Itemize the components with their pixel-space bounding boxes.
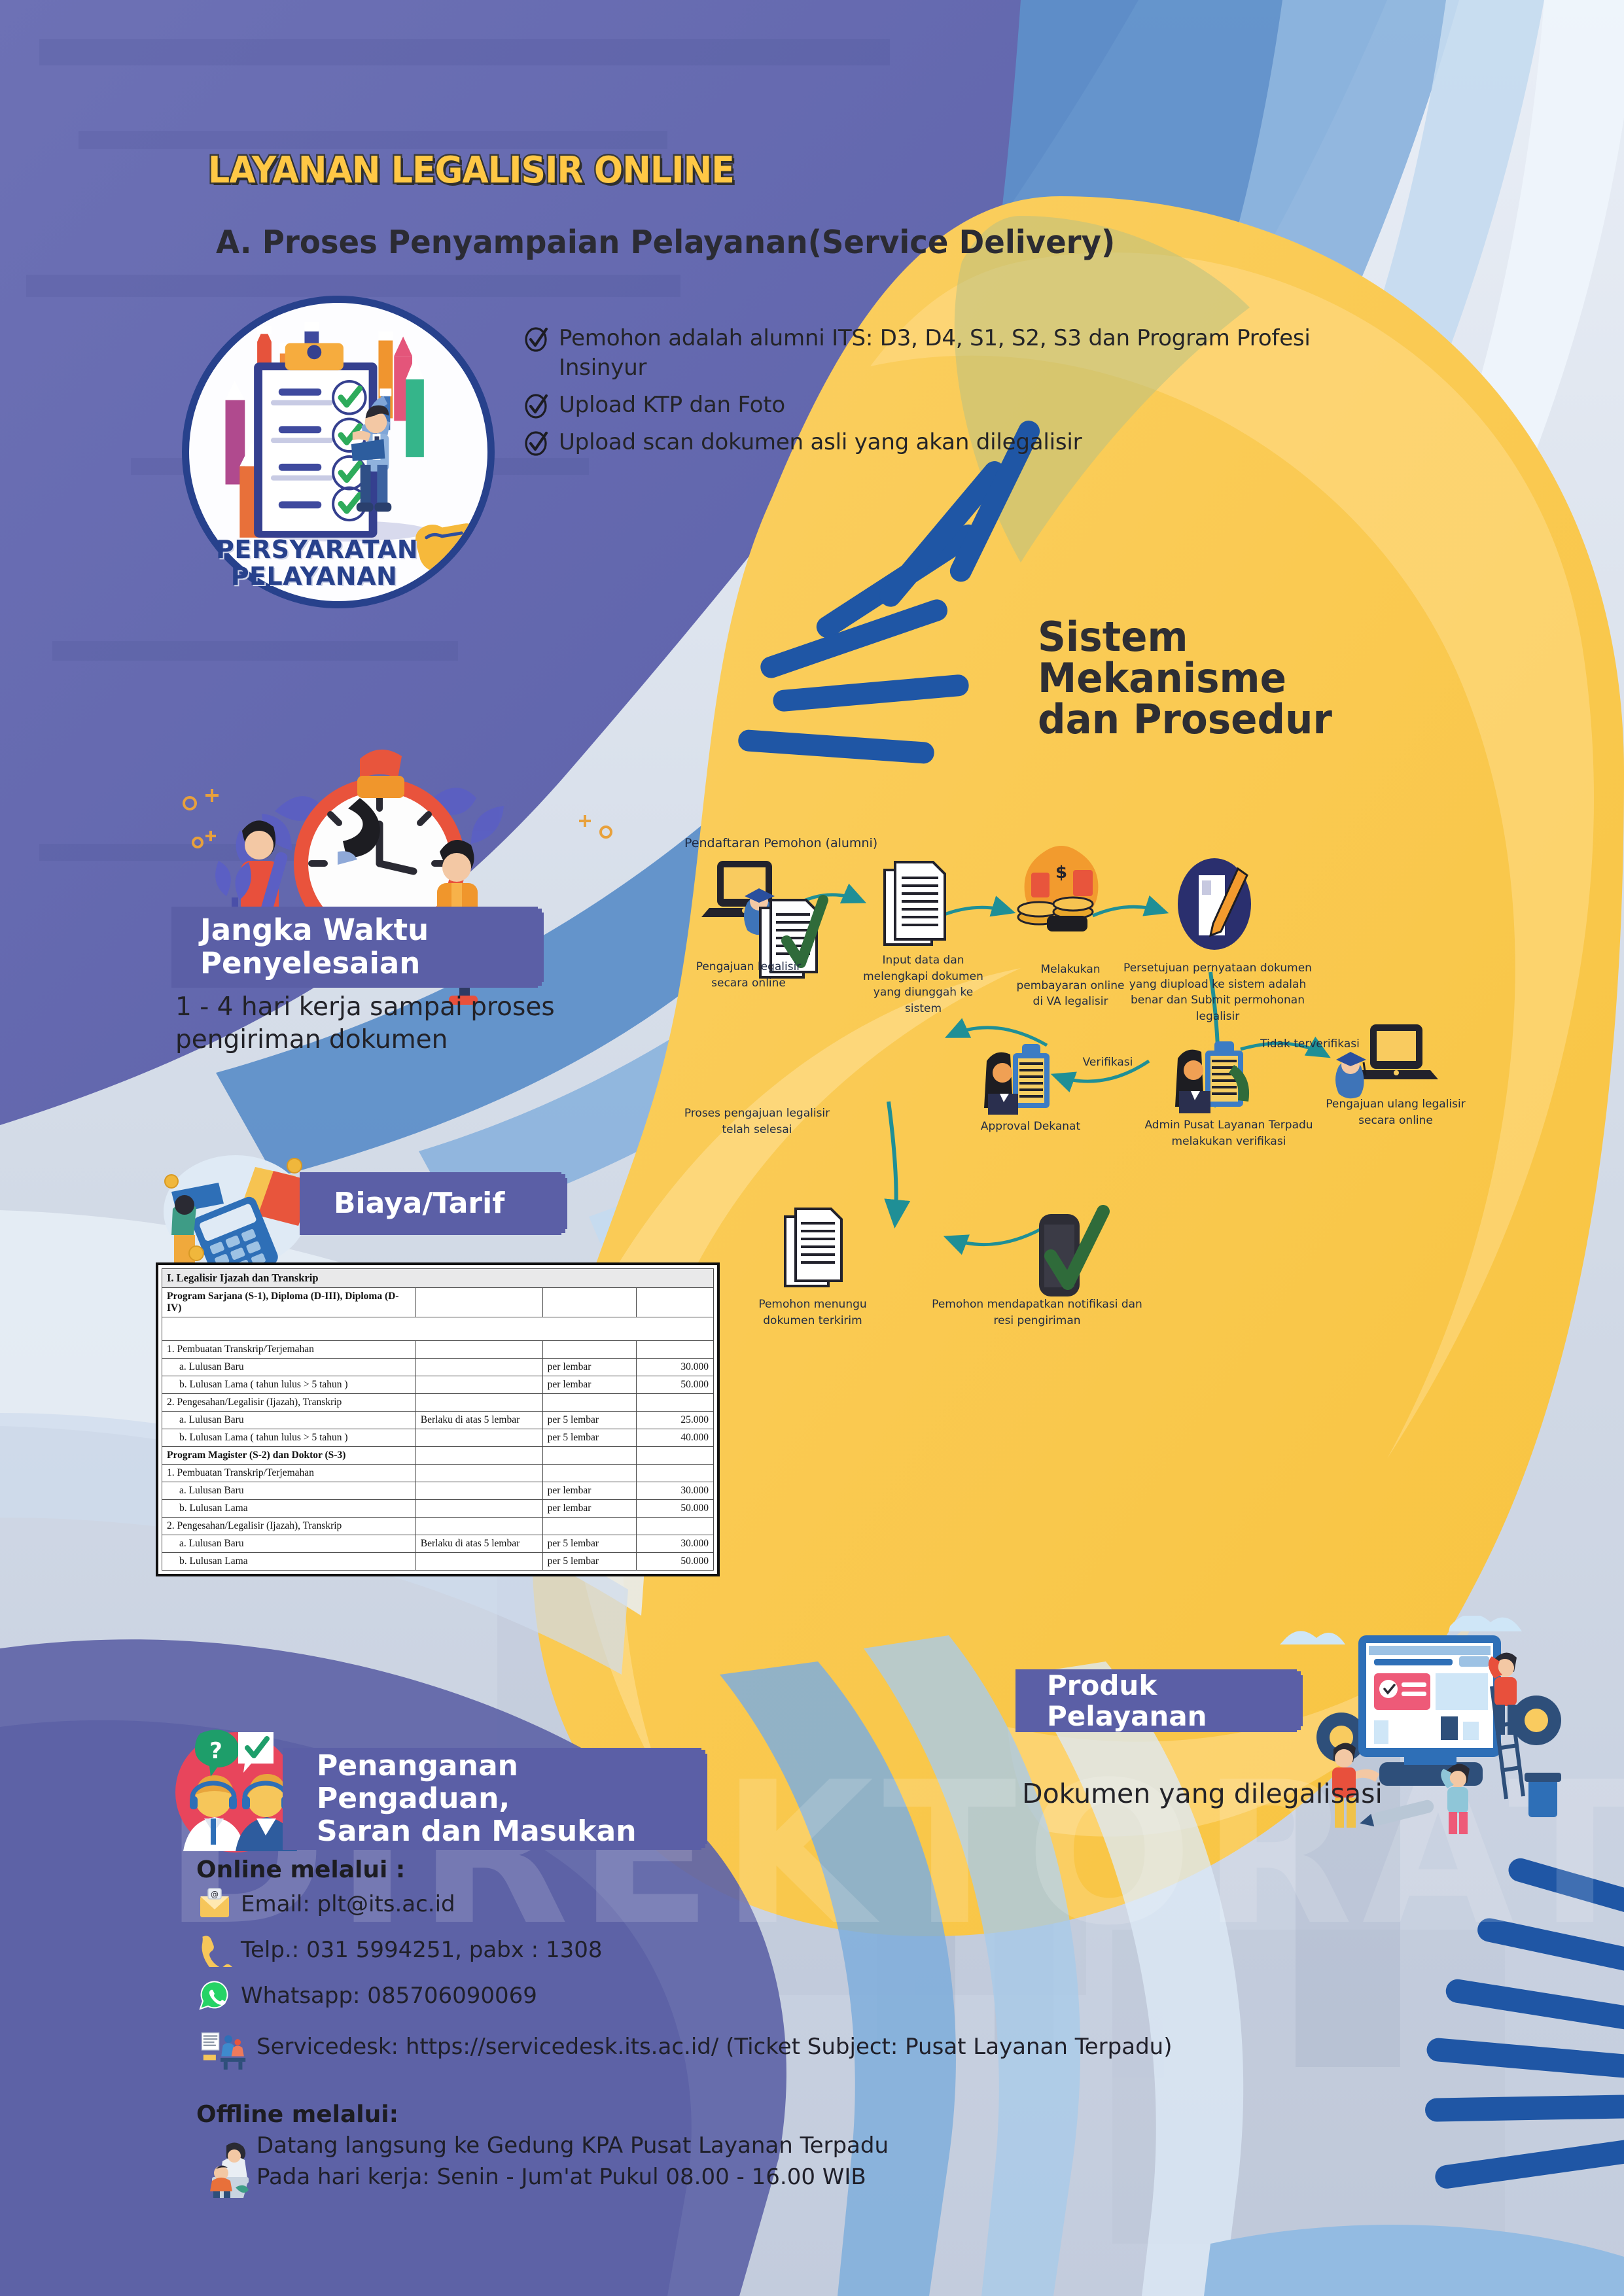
flow-step-5-label: Admin Pusat Layanan Terpadu melakukan ve… xyxy=(1144,1117,1314,1149)
svg-text:@: @ xyxy=(211,1890,219,1899)
table-cell: a. Lulusan Baru xyxy=(162,1482,416,1500)
tariff-ribbon: Biaya/Tarif xyxy=(300,1172,561,1235)
table-row: b. Lulusan Lama ( tahun lulus > 5 tahun … xyxy=(162,1376,714,1394)
table-cell: 30.000 xyxy=(636,1359,713,1376)
table-cell xyxy=(415,1465,542,1482)
table-cell xyxy=(415,1500,542,1518)
table-cell: a. Lulusan Baru xyxy=(162,1535,416,1553)
documents-wait-icon xyxy=(785,1209,841,1286)
flow-step-8-label: Pengajuan ulang legalisir secara online xyxy=(1320,1096,1471,1128)
page-title: LAYANAN LEGALISIR ONLINE xyxy=(208,149,734,192)
duration-description: 1 - 4 hari kerja sampai proses pengirima… xyxy=(175,991,686,1056)
list-item: Upload KTP dan Foto xyxy=(523,391,1387,420)
table-cell xyxy=(542,1447,636,1465)
table-row: a. Lulusan BaruBerlaku di atas 5 lembarp… xyxy=(162,1412,714,1429)
table-cell xyxy=(542,1465,636,1482)
table-row: b. Lulusan Lamaper 5 lembar50.000 xyxy=(162,1553,714,1571)
complaints-ribbon-label: Penanganan Pengaduan, Saran dan Masukan xyxy=(317,1750,701,1847)
requirement-text: Upload KTP dan Foto xyxy=(559,391,785,420)
flow-step-9-label: Pemohon mendapatkan notifikasi dan resi … xyxy=(929,1296,1145,1329)
duration-ribbon: Jangka Waktu Penyelesaian xyxy=(171,907,538,988)
table-cell: per 5 lembar xyxy=(542,1412,636,1429)
table-cell: 1. Pembuatan Transkrip/Terjemahan xyxy=(162,1465,416,1482)
requirement-text: Upload scan dokumen asli yang akan dileg… xyxy=(559,428,1082,457)
section-a-title: A. Proses Penyampaian Pelayanan(Service … xyxy=(216,224,1115,261)
check-circle-icon xyxy=(523,393,550,419)
contact-servicedesk-text: Servicedesk: https://servicedesk.its.ac.… xyxy=(256,2030,1178,2061)
offline-line-1: Datang langsung ke Gedung KPA Pusat Laya… xyxy=(256,2131,1178,2162)
offline-section: Offline melalui: Datang langsung ke Gedu… xyxy=(196,2101,1178,2193)
table-cell: per 5 lembar xyxy=(542,1553,636,1571)
table-cell: I. Legalisir Ijazah dan Transkrip xyxy=(162,1269,714,1288)
contact-row-whatsapp[interactable]: Whatsapp: 085706090069 xyxy=(196,1979,1178,2013)
table-cell: Program Magister (S-2) dan Doktor (S-3) xyxy=(162,1447,416,1465)
product-ribbon: Produk Pelayanan xyxy=(1015,1669,1297,1732)
servicedesk-icon xyxy=(196,2030,253,2070)
approval-clipboard-icon xyxy=(984,1044,1050,1115)
contact-row-email[interactable]: @ Email: plt@its.ac.id xyxy=(196,1887,1178,1921)
contact-email-text: Email: plt@its.ac.id xyxy=(241,1887,455,1919)
requirement-text: Pemohon adalah alumni ITS: D3, D4, S1, S… xyxy=(559,324,1387,383)
contact-whatsapp-text: Whatsapp: 085706090069 xyxy=(241,1979,537,2010)
table-row: 1. Pembuatan Transkrip/Terjemahan xyxy=(162,1465,714,1482)
complaints-ribbon: Penanganan Pengaduan, Saran dan Masukan xyxy=(283,1748,701,1850)
table-cell: b. Lulusan Lama xyxy=(162,1553,416,1571)
document-pencil-icon xyxy=(1178,858,1251,950)
table-row: b. Lulusan Lama ( tahun lulus > 5 tahun … xyxy=(162,1429,714,1447)
table-cell xyxy=(636,1288,713,1317)
table-cell: per lembar xyxy=(542,1482,636,1500)
table-cell: 40.000 xyxy=(636,1429,713,1447)
requirements-list: Pemohon adalah alumni ITS: D3, D4, S1, S… xyxy=(523,324,1387,465)
table-cell: per 5 lembar xyxy=(542,1535,636,1553)
flow-top-label: Pendaftaran Pemohon (alumni) xyxy=(684,835,907,853)
mechanism-flowchart: $ xyxy=(680,831,1570,1354)
table-cell xyxy=(542,1518,636,1535)
table-cell: b. Lulusan Lama ( tahun lulus > 5 tahun … xyxy=(162,1376,416,1394)
tariff-table-body: I. Legalisir Ijazah dan Transkrip Progra… xyxy=(162,1269,714,1571)
flow-step-2-label: Input data dan melengkapi dokumen yang d… xyxy=(861,952,985,1017)
online-heading: Online melalui : xyxy=(196,1856,1178,1883)
phone-check-icon xyxy=(1039,1211,1103,1296)
check-circle-icon xyxy=(523,430,550,457)
table-cell: per lembar xyxy=(542,1376,636,1394)
list-item: Upload scan dokumen asli yang akan dileg… xyxy=(523,428,1387,457)
table-cell xyxy=(636,1447,713,1465)
table-cell xyxy=(415,1518,542,1535)
contact-row-servicedesk[interactable]: Servicedesk: https://servicedesk.its.ac.… xyxy=(196,2030,1178,2070)
table-cell: per lembar xyxy=(542,1500,636,1518)
table-cell: per lembar xyxy=(542,1359,636,1376)
table-cell xyxy=(415,1359,542,1376)
table-cell: 30.000 xyxy=(636,1482,713,1500)
table-cell xyxy=(636,1341,713,1359)
table-cell xyxy=(415,1341,542,1359)
list-item: Pemohon adalah alumni ITS: D3, D4, S1, S… xyxy=(523,324,1387,383)
flow-edge-tidak-terverifikasi-label: Tidak terverifikasi xyxy=(1238,1036,1382,1052)
email-icon: @ xyxy=(196,1887,237,1921)
svg-text:$: $ xyxy=(1055,863,1067,882)
svg-text:?: ? xyxy=(209,1738,222,1764)
flow-edge-verifikasi-label: Verifikasi xyxy=(1065,1054,1150,1071)
table-row: a. Lulusan Baruper lembar30.000 xyxy=(162,1482,714,1500)
flow-step-1-label: Pengajuan legalisir secara online xyxy=(683,959,814,991)
offline-heading: Offline melalui: xyxy=(196,2101,1178,2128)
table-cell: 2. Pengesahan/Legalisir (Ijazah), Transk… xyxy=(162,1394,416,1412)
contact-channels: Online melalui : @ Email: plt@its.ac.id … xyxy=(196,1856,1178,2082)
tariff-ribbon-label: Biaya/Tarif xyxy=(334,1187,504,1220)
table-cell: 50.000 xyxy=(636,1553,713,1571)
mechanism-heading: Sistem Mekanisme dan Prosedur xyxy=(1038,616,1332,740)
table-row: 1. Pembuatan Transkrip/Terjemahan xyxy=(162,1341,714,1359)
table-cell xyxy=(415,1553,542,1571)
laptop-graduate-retry-icon xyxy=(1335,1024,1438,1098)
table-cell xyxy=(636,1394,713,1412)
table-cell: 1. Pembuatan Transkrip/Terjemahan xyxy=(162,1341,416,1359)
table-row-section: I. Legalisir Ijazah dan Transkrip xyxy=(162,1269,714,1288)
contact-row-phone[interactable]: Telp.: 031 5994251, pabx : 1308 xyxy=(196,1933,1178,1967)
money-bag-coins-icon: $ xyxy=(1018,846,1098,931)
product-description: Dokumen yang dilegalisasi xyxy=(1022,1778,1383,1809)
table-cell xyxy=(636,1518,713,1535)
table-cell xyxy=(415,1394,542,1412)
table-cell: a. Lulusan Baru xyxy=(162,1412,416,1429)
tariff-table-container: I. Legalisir Ijazah dan Transkrip Progra… xyxy=(156,1262,720,1576)
tariff-table: I. Legalisir Ijazah dan Transkrip Progra… xyxy=(162,1268,714,1571)
check-circle-icon xyxy=(523,326,550,353)
table-cell: 50.000 xyxy=(636,1500,713,1518)
table-cell-spacer xyxy=(162,1317,714,1341)
table-cell: 50.000 xyxy=(636,1376,713,1394)
table-cell: b. Lulusan Lama xyxy=(162,1500,416,1518)
persyaratan-label: PERSYARATAN PELAYANAN xyxy=(216,536,412,590)
contact-phone-text: Telp.: 031 5994251, pabx : 1308 xyxy=(241,1933,602,1964)
table-row: Program Magister (S-2) dan Doktor (S-3) xyxy=(162,1447,714,1465)
table-row: 2. Pengesahan/Legalisir (Ijazah), Transk… xyxy=(162,1518,714,1535)
table-cell xyxy=(542,1341,636,1359)
table-cell: 30.000 xyxy=(636,1535,713,1553)
documents-icon xyxy=(885,862,945,945)
table-cell: Program Sarjana (S-1), Diploma (D-III), … xyxy=(162,1288,416,1317)
table-cell: b. Lulusan Lama ( tahun lulus > 5 tahun … xyxy=(162,1429,416,1447)
flow-step-10-label: Pemohon menungu dokumen terkirim xyxy=(741,1296,885,1329)
whatsapp-icon xyxy=(196,1979,237,2013)
flowchart-svg: $ xyxy=(680,831,1570,1354)
service-counter-icon xyxy=(207,2139,259,2198)
table-row: a. Lulusan BaruBerlaku di atas 5 lembarp… xyxy=(162,1535,714,1553)
table-cell xyxy=(542,1394,636,1412)
offline-line-2: Pada hari kerja: Senin - Jum'at Pukul 08… xyxy=(256,2162,1178,2193)
table-row xyxy=(162,1317,714,1341)
table-cell xyxy=(415,1429,542,1447)
table-cell: Berlaku di atas 5 lembar xyxy=(415,1412,542,1429)
table-row: b. Lulusan Lamaper lembar50.000 xyxy=(162,1500,714,1518)
table-cell: 25.000 xyxy=(636,1412,713,1429)
table-cell xyxy=(542,1288,636,1317)
flow-step-7-label: Proses pengajuan legalisir telah selesai xyxy=(669,1105,845,1138)
table-cell: a. Lulusan Baru xyxy=(162,1359,416,1376)
table-cell: Berlaku di atas 5 lembar xyxy=(415,1535,542,1553)
table-row: a. Lulusan Baruper lembar30.000 xyxy=(162,1359,714,1376)
product-ribbon-label: Produk Pelayanan xyxy=(1047,1670,1297,1732)
table-row: Program Sarjana (S-1), Diploma (D-III), … xyxy=(162,1288,714,1317)
table-cell xyxy=(636,1465,713,1482)
table-row: 2. Pengesahan/Legalisir (Ijazah), Transk… xyxy=(162,1394,714,1412)
table-cell xyxy=(415,1288,542,1317)
phone-icon xyxy=(196,1933,237,1967)
flow-step-6-label: Approval Dekanat xyxy=(968,1119,1093,1135)
table-cell: 2. Pengesahan/Legalisir (Ijazah), Transk… xyxy=(162,1518,416,1535)
table-cell xyxy=(415,1447,542,1465)
table-cell xyxy=(415,1376,542,1394)
table-cell xyxy=(415,1482,542,1500)
duration-ribbon-label: Jangka Waktu Penyelesaian xyxy=(200,914,429,981)
flow-step-4-label: Persetujuan pernyataan dokumen yang diup… xyxy=(1123,960,1313,1025)
table-cell: per 5 lembar xyxy=(542,1429,636,1447)
flow-step-3-label: Melakukan pembayaran online di VA legali… xyxy=(1012,962,1129,1010)
